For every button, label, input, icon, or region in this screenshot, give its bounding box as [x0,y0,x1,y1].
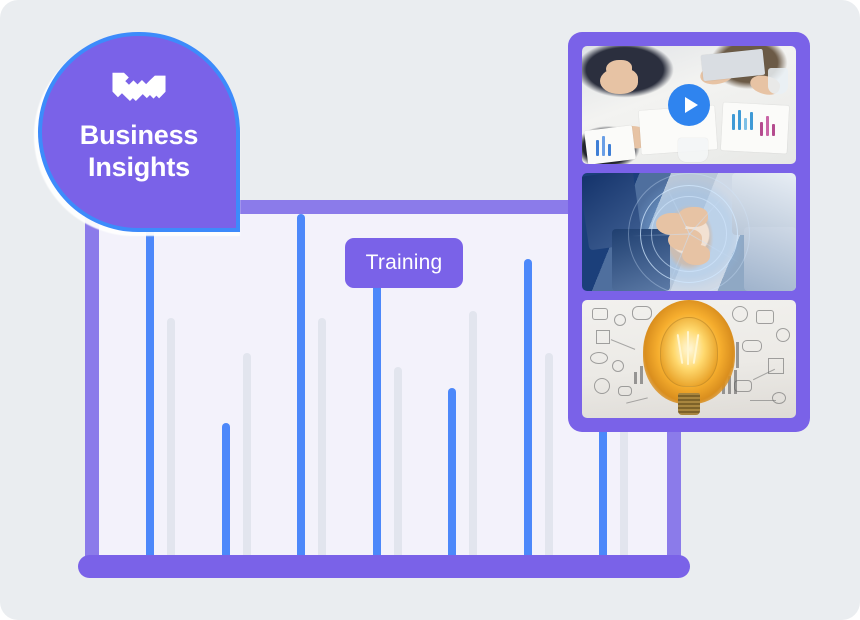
illustration-stage: Training Business Insights [0,0,860,620]
video-cards-panel [568,32,810,432]
chart-bar-current-3 [297,214,305,562]
chart-bar-current-6 [524,259,532,562]
chart-bar-current-5 [448,388,456,562]
video-card-ideas-lightbulb[interactable] [582,300,796,418]
business-insights-badge[interactable]: Business Insights [42,36,236,228]
video-card-teamwork-hands[interactable] [582,173,796,291]
handshake-icon [111,70,167,110]
bulb-base [678,393,700,415]
chart-bar-previous-6 [545,353,553,562]
chart-base-bar [78,555,690,578]
chart-bar-previous-4 [394,367,402,562]
bulb-glass [660,317,718,387]
training-label-text: Training [366,251,443,275]
chart-bar-previous-1 [167,318,175,562]
teamwork-hands-image [582,173,796,291]
chart-bar-current-4 [373,273,381,562]
play-icon[interactable] [668,84,710,126]
play-triangle [685,97,698,113]
chart-bar-previous-3 [318,318,326,562]
chart-bar-current-2 [222,423,230,562]
lightbulb-doodles-image [582,300,796,418]
training-label-pill[interactable]: Training [345,238,463,288]
badge-title-line2: Insights [80,152,198,184]
chart-bar-previous-2 [243,353,251,562]
badge-title: Business Insights [80,120,198,184]
video-card-business-meeting[interactable] [582,46,796,164]
canvas-background: Training Business Insights [0,0,860,620]
chart-bar-current-1 [146,214,154,562]
chart-bar-previous-5 [469,311,477,562]
badge-title-line1: Business [80,120,198,152]
